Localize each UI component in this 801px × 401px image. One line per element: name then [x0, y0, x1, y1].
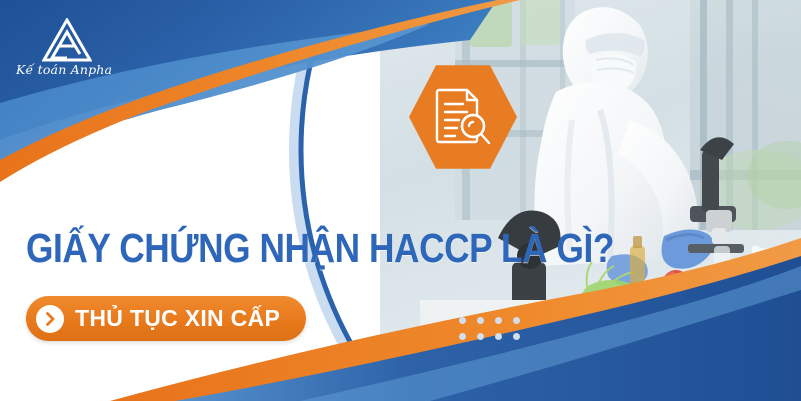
- haccp-promo-banner: Kế toán Anpha: [0, 0, 801, 401]
- dot: [495, 333, 502, 340]
- document-magnifier-icon: [433, 86, 493, 148]
- anpha-triangle-logo-icon: [42, 18, 92, 62]
- anpha-logo[interactable]: Kế toán Anpha: [16, 18, 112, 80]
- dot: [477, 333, 484, 340]
- dot: [477, 317, 484, 324]
- cta-label: THỦ TỤC XIN CẤP: [75, 305, 280, 332]
- hexagon-badge: [409, 62, 517, 172]
- dot: [513, 333, 520, 340]
- dot: [459, 317, 466, 324]
- dot: [513, 317, 520, 324]
- dot: [459, 333, 466, 340]
- dot: [495, 317, 502, 324]
- procedure-cta-button[interactable]: THỦ TỤC XIN CẤP: [26, 296, 306, 341]
- page-title: GIẤY CHỨNG NHẬN HACCP LÀ GÌ?: [26, 226, 430, 270]
- arrow-right-circle-icon: [36, 305, 64, 333]
- logo-text: Kế toán Anpha: [16, 62, 112, 77]
- dot-grid-pattern: [459, 317, 531, 349]
